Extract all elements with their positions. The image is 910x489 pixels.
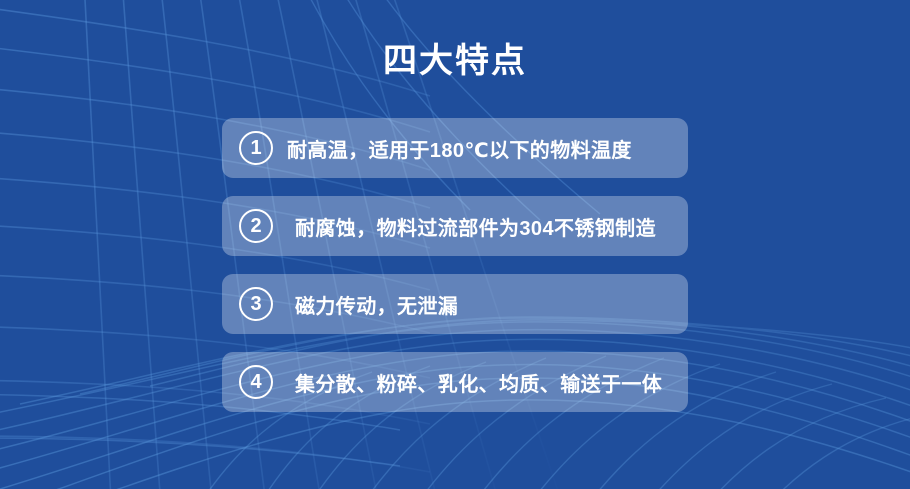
feature-row-1[interactable]: 1 耐高温，适用于180℃以下的物料温度 — [222, 118, 688, 178]
feature-number-badge-3: 3 — [239, 287, 273, 321]
feature-banner: 四大特点 1 耐高温，适用于180℃以下的物料温度 2 耐腐蚀，物料过流部件为3… — [0, 0, 910, 489]
page-title: 四大特点 — [0, 41, 910, 81]
feature-text-1: 耐高温，适用于180℃以下的物料温度 — [287, 134, 632, 163]
feature-row-4[interactable]: 4 集分散、粉碎、乳化、均质、输送于一体 — [222, 352, 688, 412]
feature-text-4: 集分散、粉碎、乳化、均质、输送于一体 — [295, 368, 662, 397]
feature-list: 1 耐高温，适用于180℃以下的物料温度 2 耐腐蚀，物料过流部件为304不锈钢… — [222, 118, 688, 412]
feature-text-3: 磁力传动，无泄漏 — [295, 290, 458, 319]
feature-number-badge-1: 1 — [239, 131, 273, 165]
feature-row-2[interactable]: 2 耐腐蚀，物料过流部件为304不锈钢制造 — [222, 196, 688, 256]
feature-number-badge-2: 2 — [239, 209, 273, 243]
feature-text-2: 耐腐蚀，物料过流部件为304不锈钢制造 — [295, 212, 656, 241]
feature-row-3[interactable]: 3 磁力传动，无泄漏 — [222, 274, 688, 334]
feature-number-badge-4: 4 — [239, 365, 273, 399]
